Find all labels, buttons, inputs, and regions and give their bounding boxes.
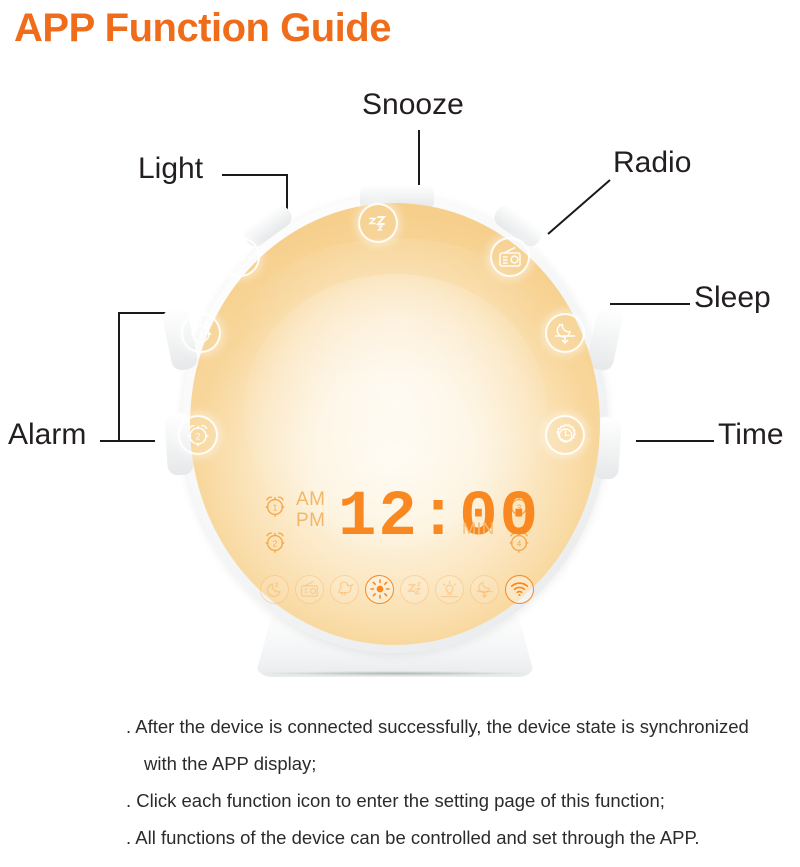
snooze-button[interactable] — [358, 203, 398, 243]
notes-block: . After the device is connected successf… — [126, 716, 792, 864]
callout-label-sleep: Sleep — [694, 281, 771, 315]
leader-line-time — [636, 440, 714, 442]
leader-line-alarm-stem — [100, 440, 155, 442]
alarm2-button[interactable]: 2 — [178, 415, 218, 455]
radio-icon — [498, 246, 522, 268]
page-title: APP Function Guide — [14, 6, 391, 51]
note-line-4: . All functions of the device can be con… — [126, 827, 792, 848]
leader-line-light-horizontal — [222, 174, 288, 176]
lcd-alarm-indicator-1: 1 — [262, 493, 288, 519]
wifi-icon[interactable] — [505, 575, 534, 604]
lcd-alarm-indicator-2: 2 — [262, 529, 288, 555]
device-base-shadow — [260, 671, 530, 676]
app-function-guide-page: APP Function Guide Light Snooze Radio Sl… — [0, 0, 800, 867]
svg-text:2: 2 — [273, 538, 278, 548]
snooze-icon[interactable] — [400, 575, 429, 604]
note-line-1: . After the device is connected successf… — [126, 716, 792, 737]
sleep-button[interactable] — [545, 313, 585, 353]
svg-text:2: 2 — [195, 432, 200, 442]
lcd-time-value: 12:00 — [338, 483, 540, 553]
note-line-3: . Click each function icon to enter the … — [126, 790, 792, 811]
lcd-ampm-block: AM PM — [296, 489, 326, 531]
lcd-am-label: AM — [296, 489, 326, 510]
callout-label-time: Time — [718, 418, 784, 452]
light-button[interactable] — [220, 237, 260, 277]
bird-sound-icon[interactable] — [330, 575, 359, 604]
lcd-pm-label: PM — [296, 510, 326, 531]
radio-icon[interactable] — [295, 575, 324, 604]
alarm1-button[interactable]: 1 — [181, 313, 221, 353]
alarm-clock-2-icon: 2 — [185, 422, 211, 448]
callout-label-light: Light — [138, 152, 203, 186]
radio-button[interactable] — [490, 237, 530, 277]
lcd-min-label: MIN — [462, 519, 495, 539]
leader-line-alarm-bracket — [118, 312, 120, 442]
sun-icon — [228, 245, 252, 269]
sunrise-light-icon[interactable] — [365, 575, 394, 604]
lcd-display: 1 2 3 — [252, 485, 542, 610]
wake-up-light-device: 1 2 — [160, 185, 630, 695]
night-light-icon[interactable] — [470, 575, 499, 604]
sleep-moon-icon[interactable] — [260, 575, 289, 604]
snooze-zz-icon — [365, 211, 391, 235]
lamp-light-icon[interactable] — [435, 575, 464, 604]
note-line-2: with the APP display; — [144, 753, 792, 774]
lcd-function-icon-row — [260, 573, 534, 605]
callout-label-alarm: Alarm — [8, 418, 86, 452]
alarm-clock-1-icon: 1 — [188, 320, 214, 346]
callout-label-snooze: Snooze — [362, 88, 464, 122]
callout-label-radio: Radio — [613, 146, 691, 180]
svg-text:1: 1 — [198, 330, 203, 340]
moon-down-arrow-icon — [553, 321, 577, 345]
time-button[interactable] — [545, 415, 585, 455]
svg-text:1: 1 — [273, 502, 278, 512]
clock-gear-icon — [553, 423, 578, 448]
